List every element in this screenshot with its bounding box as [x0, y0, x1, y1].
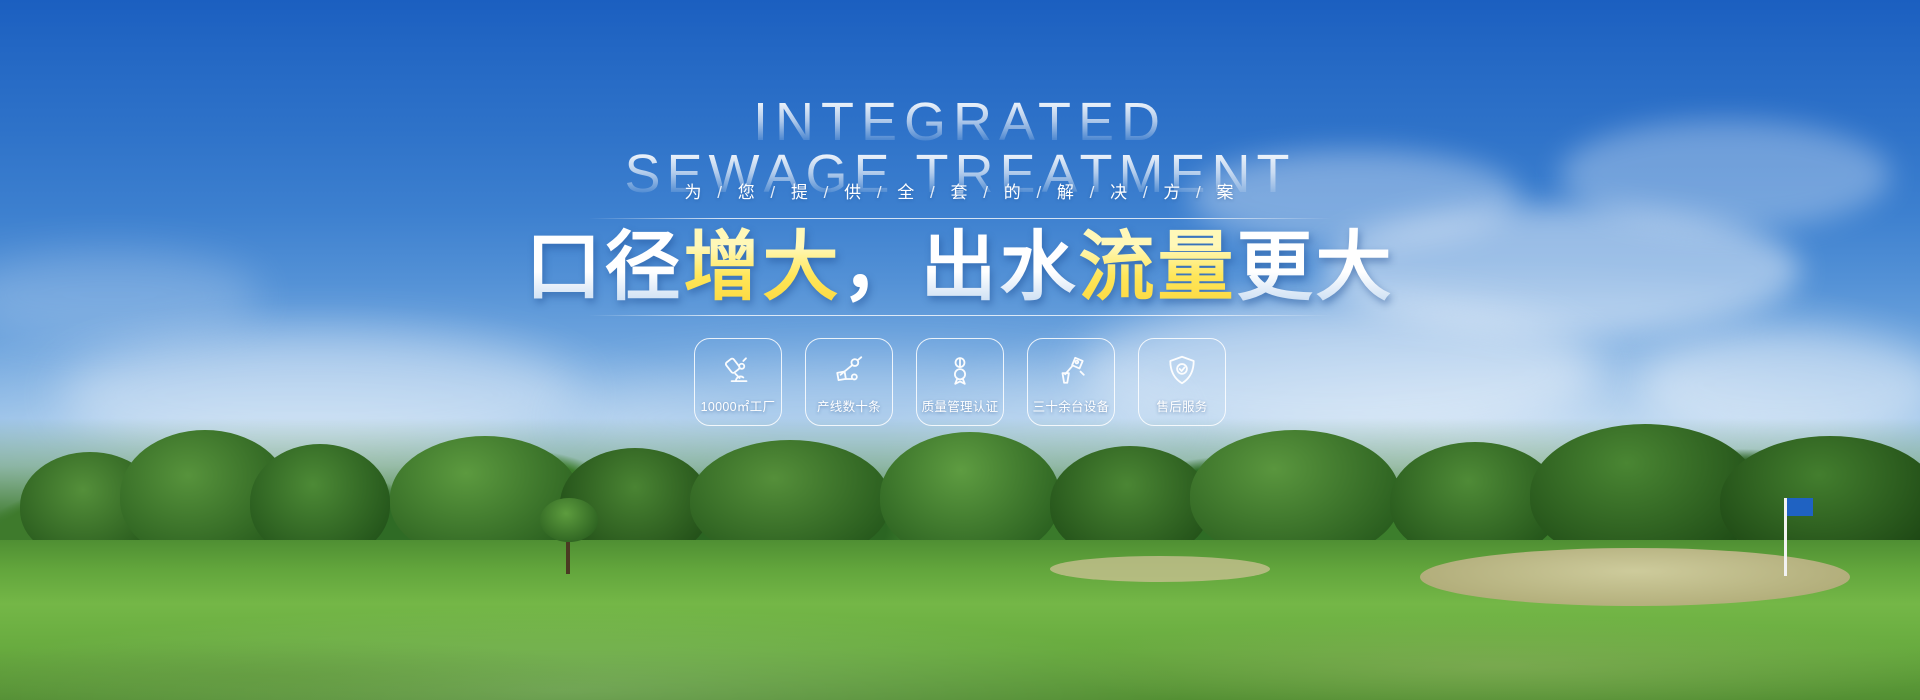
feature-badge-label: 三十余台设备	[1014, 396, 1128, 415]
subtitle-char: 的	[1004, 183, 1023, 202]
subtitle-char: 为	[684, 183, 703, 202]
feature-badge-equipment[interactable]: 三十余台设备	[1027, 338, 1115, 426]
equipment-tools-icon	[1054, 353, 1088, 387]
subtitle-char: 供	[844, 183, 863, 202]
subtitle-char: 全	[897, 183, 916, 202]
page-title: 口径增大，出水流量更大	[0, 228, 1920, 308]
subtitle-separator: /	[710, 183, 731, 202]
subtitle-separator: /	[870, 183, 891, 202]
feature-badge-factory[interactable]: 10000㎡工厂	[694, 338, 782, 426]
feature-badge-production-lines[interactable]: 产线数十条	[805, 338, 893, 426]
subtitle-group: 为 / 您 / 提 / 供 / 全 / 套 / 的 / 解 / 决 / 方 /	[0, 178, 1920, 203]
subtitle-char: 您	[738, 183, 757, 202]
feature-badge-after-sales[interactable]: 售后服务	[1138, 338, 1226, 426]
subtitle-separator: /	[1189, 183, 1210, 202]
shield-check-icon	[1165, 353, 1199, 387]
english-heading-line-1: INTEGRATED	[0, 96, 1920, 148]
subtitle-char: 提	[791, 183, 810, 202]
microscope-icon	[721, 353, 755, 387]
feature-badge-label: 售后服务	[1125, 396, 1239, 415]
subtitle-separator: /	[763, 183, 784, 202]
headline-segment-4: 出水	[921, 225, 1079, 310]
feature-badge-list: 10000㎡工厂 产线数十条	[0, 338, 1920, 426]
production-line-icon	[832, 353, 866, 387]
subtitle-text: 为 / 您 / 提 / 供 / 全 / 套 / 的 / 解 / 决 / 方 /	[684, 178, 1235, 203]
headline-segment-5: 流量	[1079, 225, 1237, 310]
headline-segment-6: 更大	[1237, 225, 1395, 310]
headline-segment-2: 增大	[684, 225, 842, 310]
subtitle-separator: /	[817, 183, 838, 202]
divider-above-headline	[588, 218, 1332, 219]
subtitle-char: 解	[1057, 183, 1076, 202]
feature-badge-certification[interactable]: 质量管理认证	[916, 338, 1004, 426]
subtitle-separator: /	[1136, 183, 1157, 202]
subtitle-char: 案	[1217, 183, 1236, 202]
subtitle-char: 套	[951, 183, 970, 202]
divider-below-headline	[588, 315, 1332, 316]
certificate-medal-icon	[943, 353, 977, 387]
subtitle-separator: /	[1083, 183, 1104, 202]
feature-badge-label: 质量管理认证	[903, 396, 1017, 415]
headline-segment-1: 口径	[526, 225, 684, 310]
hero-banner: INTEGRATED SEWAGE TREATMENT 为 / 您 / 提 / …	[0, 0, 1920, 700]
subtitle-char: 决	[1110, 183, 1129, 202]
subtitle-separator: /	[976, 183, 997, 202]
subtitle-char: 方	[1163, 183, 1182, 202]
feature-badge-label: 产线数十条	[792, 396, 906, 415]
headline-text: 口径增大，出水流量更大	[526, 225, 1395, 310]
subtitle-separator: /	[1029, 183, 1050, 202]
feature-badge-label: 10000㎡工厂	[681, 396, 795, 415]
subtitle-separator: /	[923, 183, 944, 202]
hero-content: INTEGRATED SEWAGE TREATMENT 为 / 您 / 提 / …	[0, 0, 1920, 700]
headline-segment-3: ，	[842, 225, 921, 310]
